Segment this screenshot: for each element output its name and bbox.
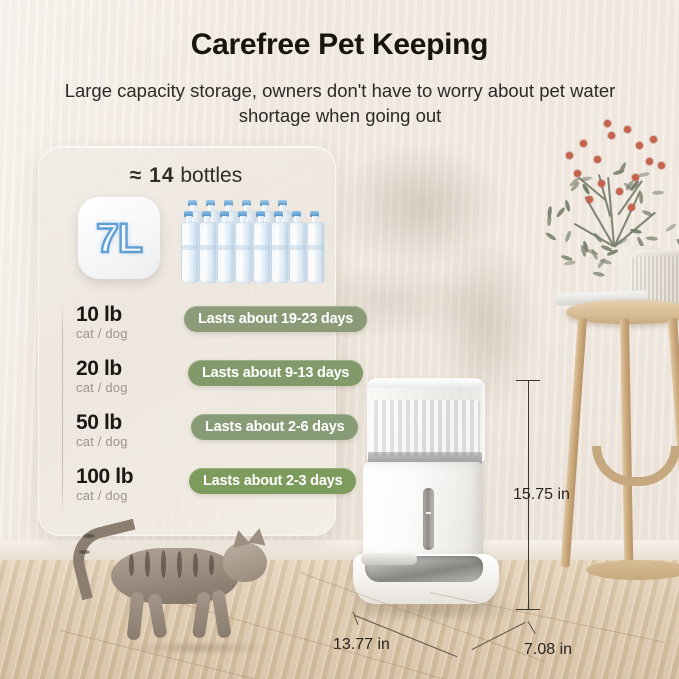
plant-berry: [650, 136, 657, 143]
cat-stripe: [161, 550, 166, 578]
plant-berry: [632, 174, 639, 181]
cat-stripe: [129, 554, 134, 576]
weight-duration-row: 50 lbcat / dogLasts about 2-6 days: [38, 408, 334, 462]
width-dimension-label: 13.77 in: [333, 636, 390, 654]
capacity-badge: 7L: [78, 197, 160, 279]
plant-leaf: [637, 172, 650, 179]
plant-leaf: [564, 200, 571, 213]
plant-berry: [616, 188, 623, 195]
water-bottle: [270, 211, 287, 281]
duration-badge: Lasts about 2-3 days: [189, 468, 356, 494]
water-bottle: [180, 211, 197, 281]
bottles-unit-label: bottles: [180, 164, 242, 187]
weight-label-group: 50 lbcat / dog: [76, 412, 172, 449]
page-subtitle: Large capacity storage, owners don't hav…: [60, 78, 620, 128]
cat-stripe: [177, 551, 182, 578]
plant-leaf: [646, 236, 658, 241]
plant-leaf: [629, 228, 642, 234]
plant-leaf: [564, 231, 572, 244]
plant-leaf: [556, 206, 567, 218]
cat-stripe: [193, 553, 198, 577]
weight-value: 20 lb: [76, 358, 172, 380]
weight-duration-list: 10 lbcat / dogLasts about 19-23 days20 l…: [38, 300, 334, 516]
plant-berry: [598, 180, 605, 187]
cat-ear-far: [248, 527, 269, 546]
pet-type-label: cat / dog: [76, 434, 172, 449]
weight-value: 100 lb: [76, 466, 172, 488]
cat-stripe: [145, 551, 150, 577]
table-base-ring: [586, 560, 679, 580]
plant-leaf: [639, 192, 643, 204]
duration-badge: Lasts about 9-13 days: [188, 360, 363, 386]
plant-leaf: [675, 238, 679, 250]
water-bottle: [198, 211, 215, 281]
bottle-body: [181, 222, 199, 283]
pet-type-label: cat / dog: [76, 326, 172, 341]
plant-leaf: [612, 169, 625, 176]
bottle-body: [217, 222, 235, 283]
bowl-lip: [361, 553, 417, 565]
plant-berry: [580, 140, 587, 147]
weight-label-group: 20 lbcat / dog: [76, 358, 172, 395]
bottle-body: [235, 222, 253, 283]
height-tick-top: [516, 380, 540, 381]
bottle-body: [199, 222, 217, 283]
capacity-badge-label: 7L: [78, 197, 160, 279]
plant-berry: [658, 162, 665, 169]
plant-leaf: [580, 176, 593, 182]
plant-berry: [574, 170, 581, 177]
cat-head: [223, 542, 267, 582]
weight-duration-row: 20 lbcat / dogLasts about 9-13 days: [38, 354, 334, 408]
weight-duration-row: 100 lbcat / dogLasts about 2-3 days: [38, 462, 334, 516]
bottle-body: [289, 222, 307, 283]
plant-berry: [594, 156, 601, 163]
bottle-body: [307, 222, 325, 283]
cat-leg-rear: [127, 591, 145, 640]
plant-leaf: [544, 231, 556, 241]
cat-stripe: [79, 550, 90, 554]
product-infographic: Carefree Pet Keeping Large capacity stor…: [0, 0, 679, 679]
plant-leaf: [651, 191, 663, 196]
plant-berry: [566, 152, 573, 159]
pet-type-label: cat / dog: [76, 380, 172, 395]
plant-berry: [608, 132, 615, 139]
water-bottle: [216, 211, 233, 281]
plant-berry: [624, 126, 631, 133]
weight-label-group: 100 lbcat / dog: [76, 466, 172, 503]
bottle-body: [271, 222, 289, 283]
tank-rim: [367, 379, 483, 388]
water-bottle: [306, 211, 323, 281]
plant-berry: [586, 196, 593, 203]
cat-stripe: [209, 555, 214, 575]
tank-ribs: [370, 400, 480, 456]
water-bottle: [288, 211, 305, 281]
height-dimension-label: 15.75 in: [513, 486, 570, 504]
bottles-approx-value: ≈ 14: [130, 164, 175, 187]
plant-leaf: [665, 223, 677, 233]
weight-value: 10 lb: [76, 304, 172, 326]
plant-berry: [646, 158, 653, 165]
duration-badge: Lasts about 2-6 days: [191, 414, 358, 440]
water-bottle-group: [180, 200, 308, 284]
plant-berry: [628, 204, 635, 211]
plant-berry: [636, 142, 643, 149]
bottles-heading: ≈ 14 bottles: [38, 164, 334, 188]
bottle-body: [253, 222, 271, 283]
water-bottle: [234, 211, 251, 281]
plant-leaf: [547, 214, 552, 226]
weight-duration-row: 10 lbcat / dogLasts about 19-23 days: [38, 300, 334, 354]
bottle-row-front: [180, 211, 323, 281]
tabby-cat: [55, 520, 295, 660]
duration-badge: Lasts about 19-23 days: [184, 306, 367, 332]
pet-type-label: cat / dog: [76, 488, 172, 503]
cat-stripe: [83, 534, 95, 538]
water-level-window: [423, 488, 434, 550]
weight-value: 50 lb: [76, 412, 172, 434]
weight-label-group: 10 lbcat / dog: [76, 304, 172, 341]
pet-water-dispenser: [345, 378, 513, 618]
plant-leaf: [593, 232, 604, 244]
page-title: Carefree Pet Keeping: [0, 28, 679, 62]
water-bottle: [252, 211, 269, 281]
